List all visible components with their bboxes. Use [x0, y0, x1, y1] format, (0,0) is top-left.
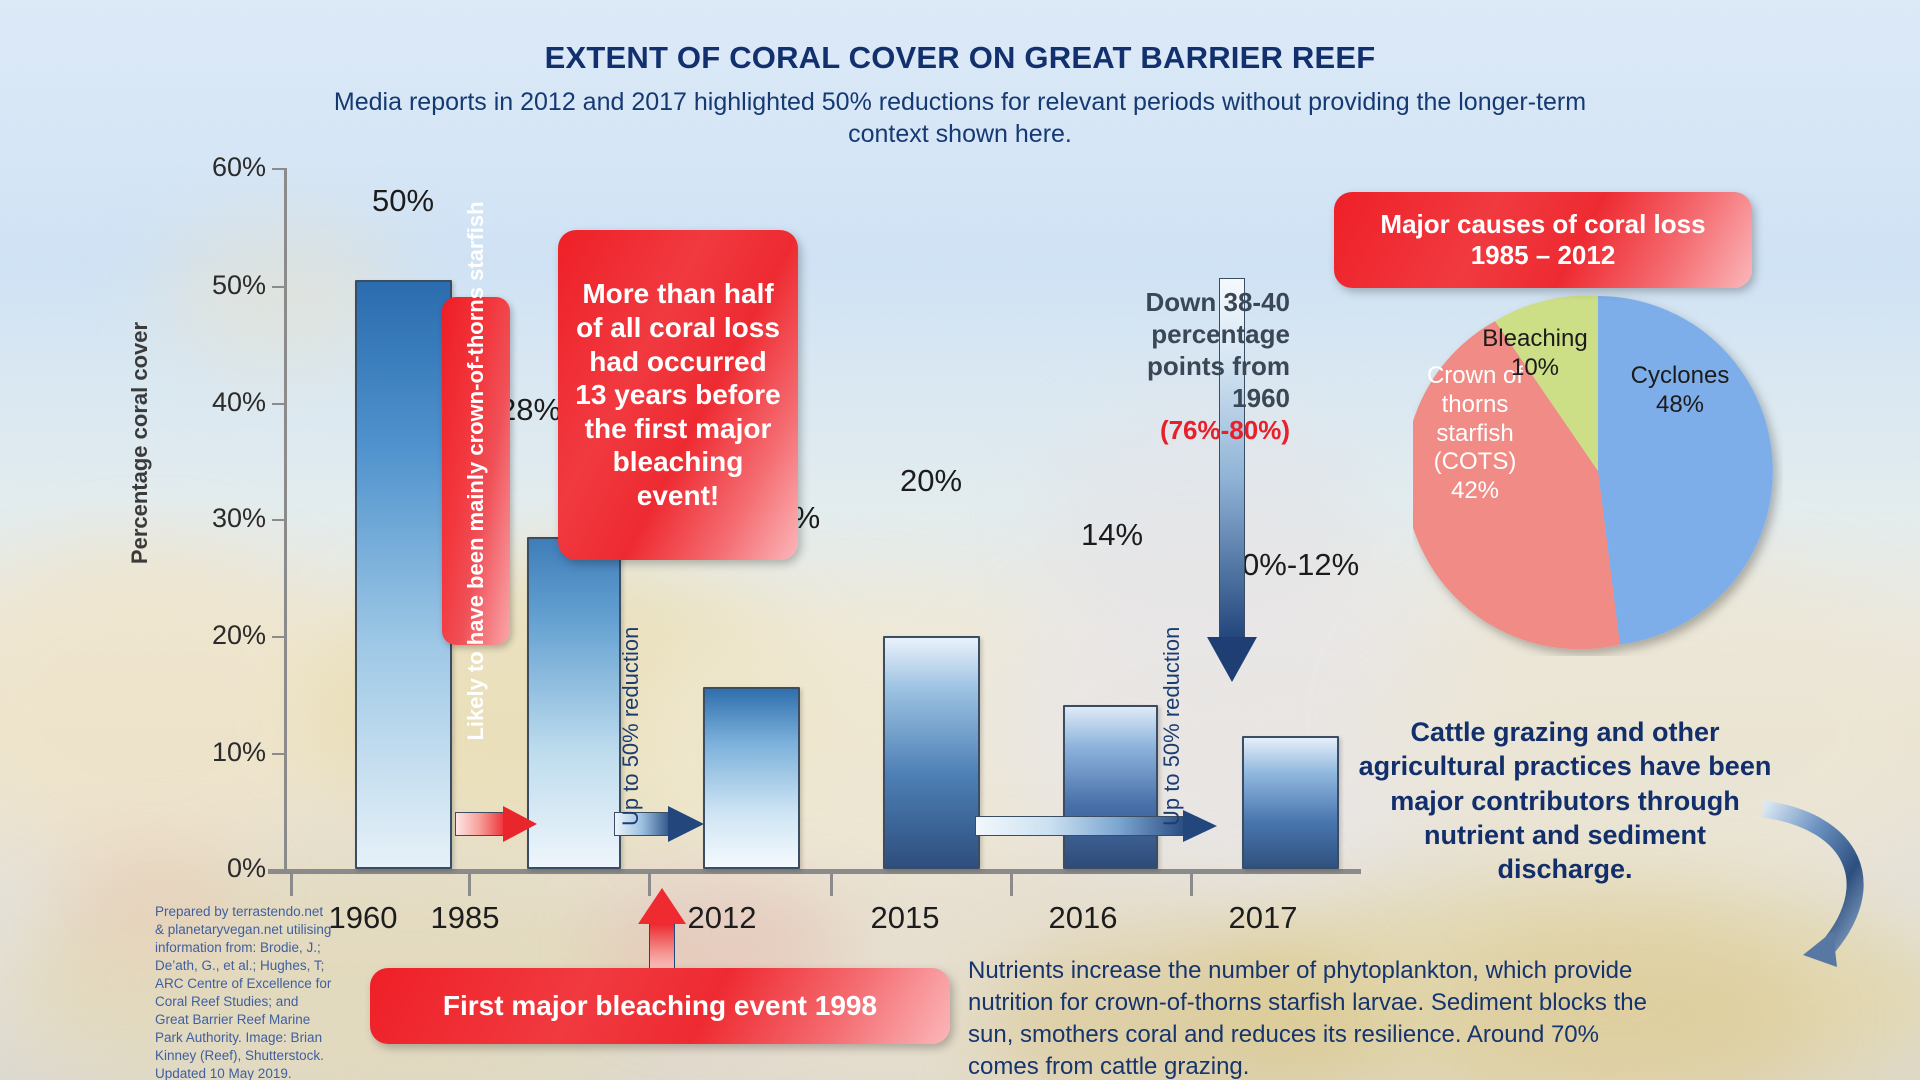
x-tick-2017: [1190, 874, 1193, 896]
y-tick-50: [272, 286, 286, 288]
y-tick-0: [272, 869, 286, 871]
callout-bleaching-event: First major bleaching event 1998: [370, 968, 950, 1044]
down3840-line2: percentage: [1151, 319, 1290, 349]
footnote: Prepared by terrastendo.net & planetaryv…: [155, 903, 335, 1080]
down3840-line4: 1960: [1232, 383, 1290, 413]
x-label-2016: 2016: [993, 900, 1173, 936]
callout-pie-title: Major causes of coral loss 1985 – 2012: [1334, 192, 1752, 288]
y-tick-label-40: 40%: [180, 387, 266, 418]
pie-label-cots-value: 42%: [1405, 477, 1545, 506]
curved-arrow-icon: [1745, 795, 1920, 980]
y-tick-10: [272, 753, 286, 755]
y-tick-60: [272, 168, 286, 170]
pie-label-bleaching-value: 10%: [1455, 354, 1615, 383]
annotation-down-38-40: Down 38-40 percentage points from 1960 (…: [1065, 287, 1290, 447]
x-tick-2015: [830, 874, 833, 896]
bar-value-2016: 14%: [1012, 517, 1212, 553]
pie-label-cots-line4: (COTS): [1405, 448, 1545, 477]
footnote-text: Prepared by terrastendo.net & planetaryv…: [155, 904, 331, 1063]
y-tick-30: [272, 519, 286, 521]
label-up-to-50-reduction-1985: Up to 50% reduction: [618, 627, 644, 826]
y-tick-label-30: 30%: [180, 503, 266, 534]
y-tick-label-10: 10%: [180, 737, 266, 768]
y-tick-20: [272, 636, 286, 638]
callout-pie-title-line2: 1985 – 2012: [1471, 240, 1616, 271]
pie-label-bleaching-name: Bleaching: [1455, 325, 1615, 354]
cots-vertical-callout: Likely to have been mainly crown-of-thor…: [442, 297, 510, 645]
x-tick-1985: [468, 874, 471, 896]
pie-label-cots-line3: starfish: [1405, 420, 1545, 449]
right-arrow-2015-to-2017: [975, 810, 1225, 842]
pie-label-cots-line2: thorns: [1405, 391, 1545, 420]
x-label-2017: 2017: [1173, 900, 1353, 936]
label-up-to-50-reduction-2016: Up to 50% reduction: [1159, 627, 1185, 826]
pie-label-cyclones: Cyclones 48%: [1600, 362, 1760, 420]
pie-label-bleaching: Bleaching 10%: [1455, 325, 1615, 383]
bar-2012: [703, 687, 800, 869]
down3840-line1: Down 38-40: [1146, 287, 1291, 317]
y-tick-label-60: 60%: [180, 152, 266, 183]
footnote-updated: Updated 10 May 2019.: [155, 1066, 292, 1080]
bar-2015: [883, 636, 980, 869]
x-tick-1960: [290, 874, 293, 896]
x-axis-line: [268, 869, 1361, 874]
bleaching-up-arrow: [640, 890, 684, 978]
bar-value-2015: 20%: [831, 463, 1031, 499]
callout-bleaching-event-text: First major bleaching event 1998: [443, 989, 877, 1023]
statement-cattle-grazing: Cattle grazing and other agricultural pr…: [1355, 715, 1775, 886]
cots-vertical-label: Likely to have been mainly crown-of-thor…: [463, 201, 489, 740]
y-tick-label-50: 50%: [180, 270, 266, 301]
callout-pie-title-line1: Major causes of coral loss: [1380, 209, 1705, 240]
callout-half-of-coral-loss: More than half of all coral loss had occ…: [558, 230, 798, 560]
page-title: EXTENT OF CORAL COVER ON GREAT BARRIER R…: [0, 40, 1920, 76]
x-label-1985: 1985: [375, 900, 555, 936]
y-tick-label-20: 20%: [180, 620, 266, 651]
page-subtitle: Media reports in 2012 and 2017 highlight…: [330, 86, 1590, 150]
bar-1960: [355, 280, 452, 869]
right-arrow-cots-red: [455, 806, 537, 842]
bar-2016: [1063, 705, 1158, 869]
pie-label-cyclones-value: 48%: [1600, 391, 1760, 420]
pie-label-cots: Crown of thorns starfish (COTS) 42%: [1405, 362, 1545, 506]
bar-1985: [527, 537, 621, 869]
pie-slice-cyclones: [1598, 296, 1773, 645]
callout-half-of-coral-loss-text: More than half of all coral loss had occ…: [572, 277, 784, 512]
y-tick-40: [272, 403, 286, 405]
pie-label-cyclones-name: Cyclones: [1600, 362, 1760, 391]
down3840-pct: (76%-80%): [1160, 415, 1290, 445]
down3840-line3: points from: [1147, 351, 1290, 381]
bar-2017: [1242, 736, 1339, 869]
y-tick-label-0: 0%: [180, 853, 266, 884]
x-tick-2016: [1010, 874, 1013, 896]
curved-arrow-svg: [1745, 795, 1920, 980]
x-label-2015: 2015: [815, 900, 995, 936]
statement-nutrients: Nutrients increase the number of phytopl…: [968, 955, 1668, 1080]
y-axis-title: Percentage coral cover: [127, 293, 153, 593]
